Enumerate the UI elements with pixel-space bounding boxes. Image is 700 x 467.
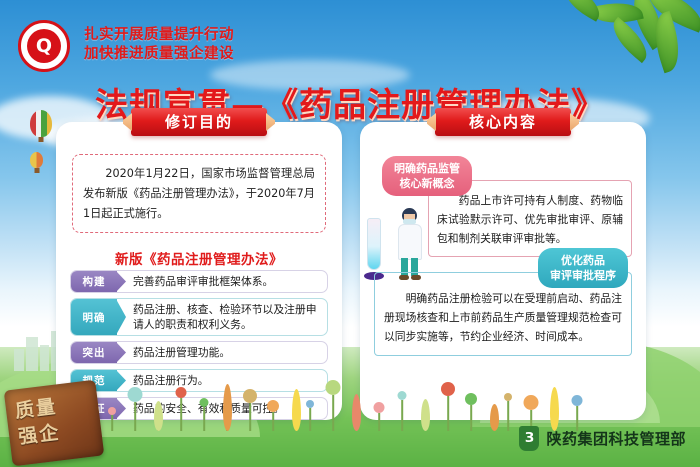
flower-decoration: [173, 384, 189, 431]
scientist-illustration: [388, 208, 434, 282]
flower-head: [243, 389, 257, 403]
flower-head: [176, 387, 187, 398]
flower-leaf: [223, 384, 232, 431]
flower-stem: [180, 398, 182, 431]
flower-leaf: [352, 394, 361, 431]
flower-stem: [272, 412, 274, 431]
flower-decoration: [219, 380, 235, 431]
flower-stem: [507, 401, 509, 431]
flower-head: [504, 393, 512, 401]
slogan-line-2: 加快推进质量强企建设: [84, 45, 234, 64]
flower-leaf: [421, 399, 430, 431]
bullet-text: 药品注册、核查、检验环节以及注册申请人的职责和权利义务。: [117, 299, 327, 335]
flower-decoration: [500, 387, 516, 431]
flower-head: [441, 382, 455, 396]
pill-core-new-concept: 明确药品监管 核心新概念: [382, 156, 472, 196]
panel-core-content: 核心内容 明确药品监管 核心新概念 药品上市许可持有人制度、药物临床试验默示许可…: [360, 122, 646, 420]
left-panel-ribbon-title: 修订目的: [131, 108, 267, 136]
sub-heading: 新版《药品注册管理办法》: [56, 248, 342, 268]
flower-stem: [309, 408, 311, 431]
flower-stem: [111, 415, 113, 431]
bullet-tag: 明确: [71, 299, 117, 335]
hot-air-balloon-icon: [30, 152, 43, 168]
flower-head: [267, 400, 279, 412]
flower-leaf: [550, 387, 559, 431]
panel-revision-purpose: 修订目的 2020年1月22日，国家市场监督管理总局发布新版《药品注册管理办法》…: [56, 122, 342, 420]
building-shape: [40, 345, 49, 371]
flower-head: [572, 395, 583, 406]
seal-text: 质量 强企: [14, 390, 95, 457]
flower-head: [465, 393, 477, 405]
flower-decoration: [440, 382, 456, 431]
flower-head: [524, 395, 539, 410]
flower-decoration: [546, 383, 562, 431]
flower-decoration: [325, 381, 341, 431]
bullet-tag: 突出: [71, 342, 117, 363]
flower-stem: [249, 403, 251, 431]
flower-head: [398, 391, 407, 400]
flower-decoration: [302, 394, 318, 431]
header-slogan: 扎实开展质量提升行动 加快推进质量强企建设: [84, 26, 234, 64]
flower-decoration: [417, 395, 433, 431]
bullet-row: 突出药品注册管理功能。: [70, 341, 328, 364]
flower-stem: [134, 402, 136, 431]
intro-text-box: 2020年1月22日，国家市场监督管理总局发布新版《药品注册管理办法》，于202…: [72, 154, 326, 233]
flower-head: [306, 400, 314, 408]
flower-strip-decoration: [100, 389, 600, 431]
flower-decoration: [394, 386, 410, 431]
poster-root: Q 扎实开展质量提升行动 加快推进质量强企建设 法规宣贯—《药品注册管理办法》 …: [0, 0, 700, 467]
flower-decoration: [242, 389, 258, 431]
flower-head: [200, 398, 209, 407]
flower-decoration: [127, 388, 143, 431]
decorative-seal-stamp: 质量 强企: [4, 380, 105, 467]
bullet-text: 完善药品审评审批框架体系。: [117, 271, 327, 292]
flower-leaf: [292, 389, 301, 431]
logo-ring-decoration: [18, 20, 70, 72]
pill-optimize-procedure: 优化药品 审评审批程序: [538, 248, 628, 288]
flower-decoration: [196, 393, 212, 431]
building-shape: [26, 337, 38, 371]
flower-stem: [203, 407, 205, 431]
flower-decoration: [371, 399, 387, 431]
flower-head: [326, 380, 341, 395]
flower-leaf: [154, 401, 163, 431]
credit-block: З 陕药集团科技管理部: [519, 426, 686, 451]
flower-stem: [470, 405, 472, 431]
flower-stem: [378, 413, 380, 431]
flower-stem: [447, 396, 449, 431]
bullet-row: 明确药品注册、核查、检验环节以及注册申请人的职责和权利义务。: [70, 298, 328, 336]
right-panel-ribbon-title: 核心内容: [435, 108, 571, 136]
page-title: 法规宣贯—《药品注册管理办法》: [0, 78, 700, 126]
flower-decoration: [348, 390, 364, 431]
test-tube-icon: [364, 218, 384, 280]
flower-decoration: [104, 401, 120, 431]
flower-leaf: [490, 404, 499, 431]
flower-head: [108, 407, 116, 415]
flower-decoration: [463, 391, 479, 431]
building-shape: [14, 349, 24, 371]
flower-decoration: [150, 397, 166, 431]
bullet-text: 药品注册管理功能。: [117, 342, 327, 363]
credit-text: 陕药集团科技管理部: [546, 428, 686, 449]
slogan-line-1: 扎实开展质量提升行动: [84, 26, 234, 45]
flower-head: [374, 402, 385, 413]
flower-decoration: [265, 398, 281, 431]
test-tube-body: [367, 218, 381, 270]
bullet-row: 构建完善药品审评审批框架体系。: [70, 270, 328, 293]
flower-head: [128, 387, 143, 402]
flower-stem: [401, 400, 403, 431]
shaanxi-pharma-logo-icon: З: [519, 426, 539, 451]
scientist-labcoat: [398, 224, 422, 260]
flower-stem: [332, 395, 334, 431]
bullet-tag: 构建: [71, 271, 117, 292]
